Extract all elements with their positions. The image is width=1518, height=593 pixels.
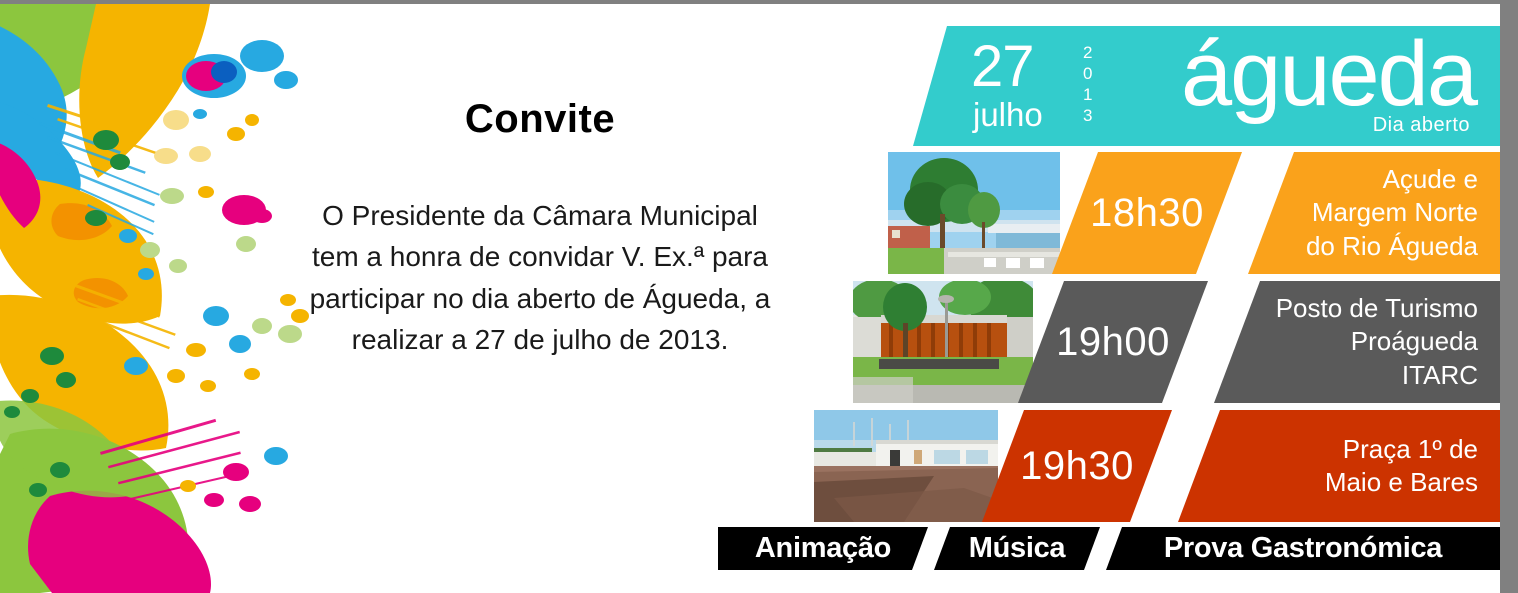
agueda-logo: águeda Dia aberto xyxy=(1181,22,1476,137)
paint-splatter-artwork xyxy=(0,4,330,593)
footer-label: Música xyxy=(969,532,1066,565)
banner-year: 2 0 1 3 xyxy=(1083,42,1092,126)
program-place: Açude e Margem Norte do Rio Águeda xyxy=(1306,163,1478,263)
program-row: 19h30 Praça 1º de Maio e Bares xyxy=(700,410,1500,522)
banner-month: julho xyxy=(973,98,1043,131)
program-row: 19h00 Posto de Turismo Proágueda ITARC xyxy=(700,281,1500,403)
program-place-cell: Praça 1º de Maio e Bares xyxy=(1178,410,1500,522)
program-time: 19h00 xyxy=(1056,320,1170,365)
praca-1-maio-photo xyxy=(814,410,998,522)
program-place: Posto de Turismo Proágueda ITARC xyxy=(1276,292,1478,392)
place-line: Açude e xyxy=(1383,164,1478,194)
place-line: Margem Norte xyxy=(1312,197,1478,227)
banner-year-digit-3: 3 xyxy=(1083,105,1092,126)
place-line: Maio e Bares xyxy=(1325,467,1478,497)
footer-item-animacao: Animação xyxy=(718,527,928,570)
footer-label: Animação xyxy=(755,532,891,565)
program-place-cell: Açude e Margem Norte do Rio Águeda xyxy=(1248,152,1500,274)
banner-year-digit-2: 1 xyxy=(1083,84,1092,105)
program-row: 18h30 Açude e Margem Norte do Rio Águeda xyxy=(700,152,1500,274)
program-place-cell: Posto de Turismo Proágueda ITARC xyxy=(1214,281,1500,403)
banner-year-digit-0: 2 xyxy=(1083,42,1092,63)
place-line: do Rio Águeda xyxy=(1306,231,1478,261)
program-place: Praça 1º de Maio e Bares xyxy=(1325,433,1478,500)
footer-item-musica: Música xyxy=(934,527,1100,570)
event-banner: 27 julho 2 0 1 3 águeda Dia aberto xyxy=(913,26,1500,146)
banner-day: 27 xyxy=(971,38,1043,96)
program-panel: 27 julho 2 0 1 3 águeda Dia aberto xyxy=(700,4,1500,593)
footer-label: Prova Gastronómica xyxy=(1164,532,1442,565)
program-footer: Animação Música Prova Gastronómica xyxy=(718,527,1500,570)
place-line: Posto de Turismo xyxy=(1276,293,1478,323)
program-time: 19h30 xyxy=(1020,444,1134,489)
banner-year-digit-1: 0 xyxy=(1083,63,1092,84)
program-time: 18h30 xyxy=(1090,191,1204,236)
place-line: Proágueda xyxy=(1351,326,1478,356)
footer-item-prova-gastronomica: Prova Gastronómica xyxy=(1106,527,1500,570)
posto-turismo-photo xyxy=(853,281,1033,403)
program-time-cell: 19h00 xyxy=(1018,281,1208,403)
acude-margem-norte-photo xyxy=(888,152,1060,274)
place-line: Praça 1º de xyxy=(1343,434,1478,464)
program-time-cell: 18h30 xyxy=(1052,152,1242,274)
banner-date: 27 julho xyxy=(971,38,1043,131)
invitation-poster: Convite O Presidente da Câmara Municipal… xyxy=(0,0,1518,593)
program-time-cell: 19h30 xyxy=(982,410,1172,522)
place-line: ITARC xyxy=(1402,360,1478,390)
logo-wordmark: águeda xyxy=(1181,22,1476,126)
